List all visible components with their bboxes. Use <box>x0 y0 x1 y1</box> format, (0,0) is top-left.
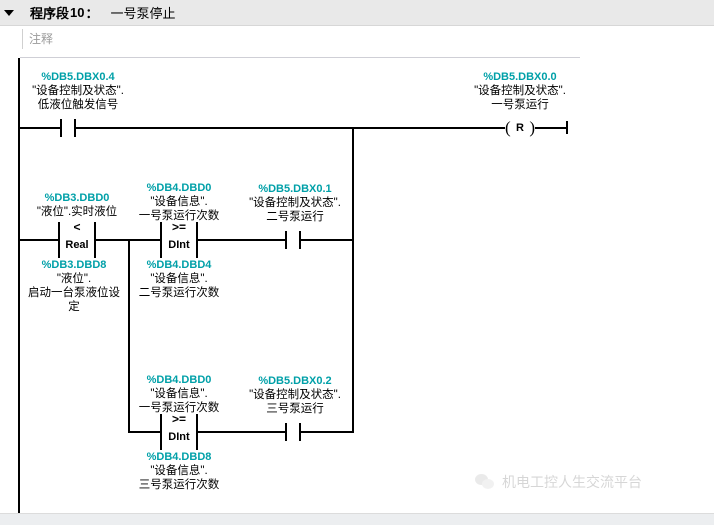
compare-pump2-operand-bottom-symbol1: "设备信息". <box>114 272 244 286</box>
contact-low-level-trigger-symbol2: 低液位触发信号 <box>0 98 168 112</box>
contact-pump3-symbol1: "设备控制及状态". <box>220 388 370 402</box>
compare-pump2-operand-bottom-address: %DB4.DBD4 <box>114 258 244 272</box>
rung1-wire-a <box>18 127 60 129</box>
compare-level-block[interactable]: < Real <box>58 222 96 258</box>
network-name[interactable]: 一号泵停止 <box>111 3 176 22</box>
compare-pump2-datatype: DInt <box>160 238 198 252</box>
contact-low-level-trigger-symbol1: "设备控制及状态". <box>0 84 168 98</box>
coil-symbol2: 一号泵运行 <box>425 98 615 112</box>
compare-pump2-operand-bottom-label: %DB4.DBD4 "设备信息". 二号泵运行次数 <box>114 258 244 300</box>
bottom-strip <box>0 513 714 525</box>
contact-pump3-symbol2: 三号泵运行 <box>220 402 370 416</box>
coil-reset-pump1-run[interactable]: ( R ) <box>505 118 535 138</box>
contact-pump3-running[interactable] <box>285 423 301 441</box>
compare-pump3-count-block[interactable]: >= DInt <box>160 414 198 450</box>
contact-low-level-trigger-address: %DB5.DBX0.4 <box>0 70 168 84</box>
compare-pump2-operand-bottom-symbol2: 二号泵运行次数 <box>114 286 244 300</box>
branchA-wire-c <box>301 239 354 241</box>
branchB-wire-c <box>301 431 354 433</box>
rung2-wire-b <box>96 239 130 241</box>
triangle-down-icon <box>4 10 14 16</box>
contact-pump2-running-label: %DB5.DBX0.1 "设备控制及状态". 二号泵运行 <box>220 182 370 224</box>
compare-pump3-operand-bottom-address: %DB4.DBD8 <box>114 450 244 464</box>
compare-level-datatype: Real <box>58 238 96 252</box>
network-header: 程序段 10 ： 一号泵停止 <box>0 0 714 26</box>
wechat-icon <box>475 474 495 491</box>
branchA-wire-b <box>198 239 285 241</box>
contact-pump2-address: %DB5.DBX0.1 <box>220 182 370 196</box>
watermark-text: 机电工控人生交流平台 <box>502 472 642 492</box>
compare-pump3-operand-bottom-symbol1: "设备信息". <box>114 464 244 478</box>
collapse-triangle-icon[interactable] <box>0 0 18 25</box>
contact-pump3-running-label: %DB5.DBX0.2 "设备控制及状态". 三号泵运行 <box>220 374 370 416</box>
contact-pump3-address: %DB5.DBX0.2 <box>220 374 370 388</box>
comment-input[interactable]: 注释 <box>22 29 581 49</box>
rung2-wire-a <box>18 239 58 241</box>
rung1-wire-b <box>76 127 505 129</box>
ladder-canvas: %DB5.DBX0.4 "设备控制及状态". 低液位触发信号 ( R ) %DB… <box>0 58 714 513</box>
network-colon: ： <box>85 3 98 22</box>
contact-low-level-trigger-label: %DB5.DBX0.4 "设备控制及状态". 低液位触发信号 <box>0 70 168 112</box>
coil-reset-pump1-run-label: %DB5.DBX0.0 "设备控制及状态". 一号泵运行 <box>425 70 615 112</box>
compare-pump2-count-block[interactable]: >= DInt <box>160 222 198 258</box>
contact-pump2-bar-left <box>285 231 287 249</box>
network-label: 程序段 <box>30 3 69 22</box>
branchB-wire-b <box>198 431 285 433</box>
compare-pump3-operand-bottom-symbol2: 三号泵运行次数 <box>114 478 244 492</box>
contact-pump2-symbol2: 二号泵运行 <box>220 210 370 224</box>
compare-pump3-operand-bottom-label: %DB4.DBD8 "设备信息". 三号泵运行次数 <box>114 450 244 492</box>
compare-pump3-datatype: DInt <box>160 430 198 444</box>
coil-address: %DB5.DBX0.0 <box>425 70 615 84</box>
coil-symbol1: "设备控制及状态". <box>425 84 615 98</box>
watermark: 机电工控人生交流平台 <box>475 472 642 492</box>
contact-pump2-symbol1: "设备控制及状态". <box>220 196 370 210</box>
branch-merge-vertical <box>352 127 354 433</box>
branchA-wire-a <box>128 239 162 241</box>
contact-bar-left <box>60 119 62 137</box>
wechat-bubble-secondary <box>482 479 494 489</box>
contact-pump2-running[interactable] <box>285 231 301 249</box>
comment-row: 注释 <box>0 26 714 52</box>
contact-low-level-trigger[interactable] <box>60 119 76 137</box>
rung1-wire-c <box>535 127 568 129</box>
compare-level-operand-bottom-symbol3: 定 <box>9 300 139 314</box>
branchB-wire-a <box>128 431 162 433</box>
right-rail-terminator <box>566 121 568 134</box>
contact-pump3-bar-left <box>285 423 287 441</box>
network-number: 10 <box>70 5 84 20</box>
compare-level-operator: < <box>58 220 96 234</box>
